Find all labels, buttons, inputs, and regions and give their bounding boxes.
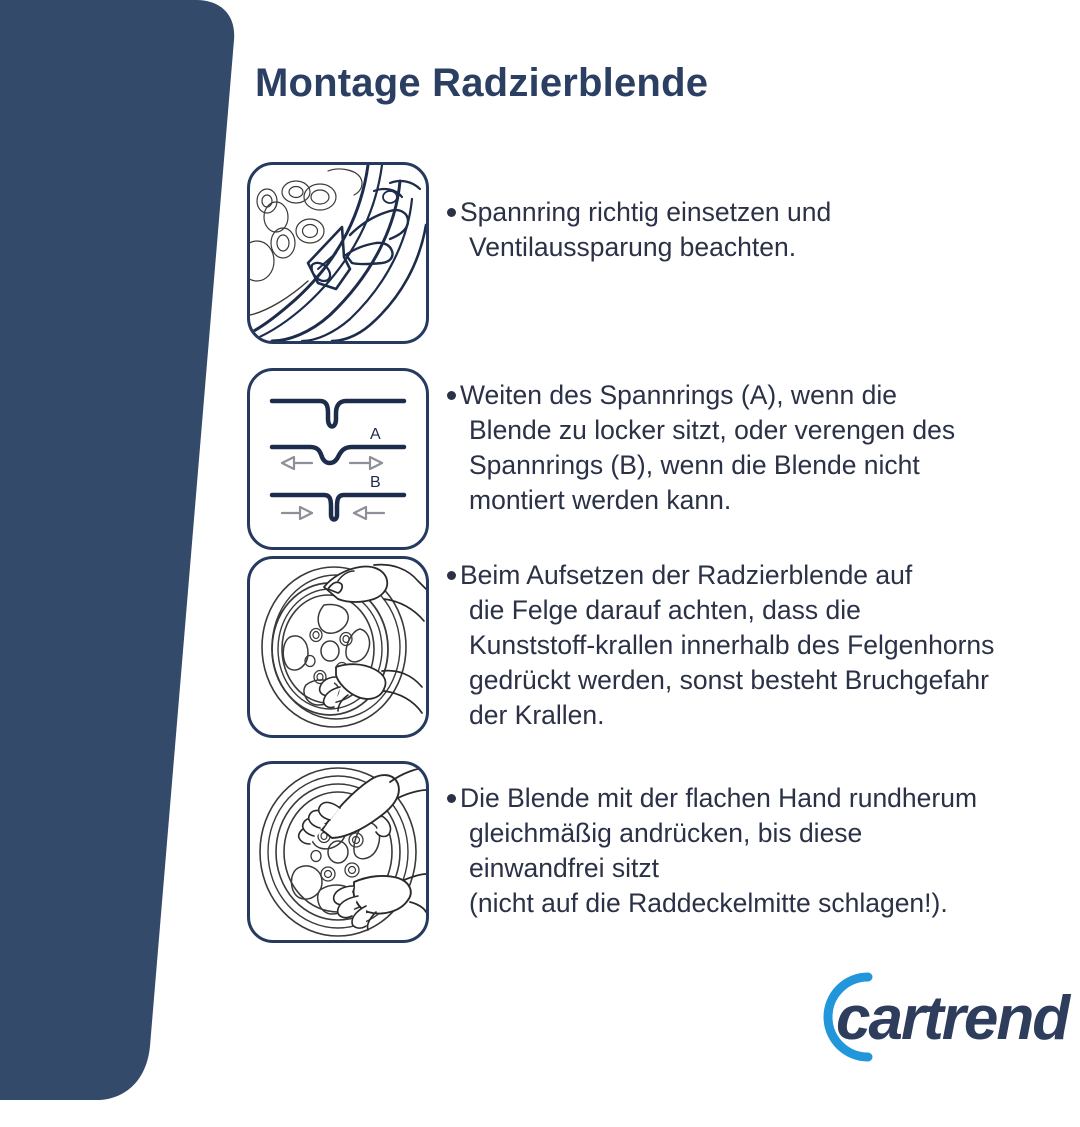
step-text-1: Spannring richtig einsetzen und Ventilau… bbox=[447, 162, 831, 265]
step-line: einwandfrei sitzt bbox=[447, 851, 977, 886]
bullet-icon bbox=[447, 794, 456, 803]
diagram-label-b: B bbox=[370, 474, 381, 491]
step-line: der Krallen. bbox=[447, 698, 994, 733]
step-text-3: Beim Aufsetzen der Radzierblende auf die… bbox=[447, 556, 994, 733]
page-root: Montage Radzierblende bbox=[0, 0, 1080, 1127]
step-item-2: A B bbox=[247, 368, 955, 550]
bullet-icon bbox=[447, 391, 456, 400]
step-item-1: Spannring richtig einsetzen und Ventilau… bbox=[247, 162, 831, 344]
step-item-4: Die Blende mit der flachen Hand rundheru… bbox=[247, 761, 977, 943]
radzierblende-aufsetzen-illustration bbox=[247, 556, 429, 738]
spannring-einsetzen-illustration bbox=[247, 162, 429, 344]
blende-andruecken-illustration bbox=[247, 761, 429, 943]
step-line: die Felge darauf achten, dass die bbox=[447, 593, 994, 628]
diagram-label-a: A bbox=[370, 426, 381, 443]
step-line: Spannrings (B), wenn die Blende nicht bbox=[447, 448, 955, 483]
cartrend-wordmark: cartrend bbox=[836, 984, 1071, 1053]
step-text-4: Die Blende mit der flachen Hand rundheru… bbox=[447, 761, 977, 921]
step-line: Beim Aufsetzen der Radzierblende auf bbox=[460, 560, 912, 590]
step-line: Weiten des Spannrings (A), wenn die bbox=[460, 380, 897, 410]
step-line: gleichmäßig andrücken, bis diese bbox=[447, 816, 977, 851]
bullet-icon bbox=[447, 571, 456, 580]
step-line: Spannring richtig einsetzen und bbox=[460, 197, 831, 227]
step-line: Die Blende mit der flachen Hand rundheru… bbox=[460, 783, 977, 813]
step-line: (nicht auf die Raddeckelmitte schlagen!)… bbox=[447, 886, 977, 921]
spannring-weiten-verengen-diagram: A B bbox=[247, 368, 429, 550]
step-text-2: Weiten des Spannrings (A), wenn die Blen… bbox=[447, 368, 955, 518]
step-line: montiert werden kann. bbox=[447, 483, 955, 518]
cartrend-logo: cartrend bbox=[806, 963, 1074, 1071]
step-line: gedrückt werden, sonst besteht Bruchgefa… bbox=[447, 663, 994, 698]
step-line: Kunststoff-krallen innerhalb des Felgenh… bbox=[447, 628, 994, 663]
steps-list: Spannring richtig einsetzen und Ventilau… bbox=[0, 0, 1080, 1127]
step-line: Blende zu locker sitzt, oder verengen de… bbox=[447, 413, 955, 448]
step-item-3: Beim Aufsetzen der Radzierblende auf die… bbox=[247, 556, 994, 738]
step-line: Ventilaussparung beachten. bbox=[447, 230, 831, 265]
bullet-icon bbox=[447, 208, 456, 217]
